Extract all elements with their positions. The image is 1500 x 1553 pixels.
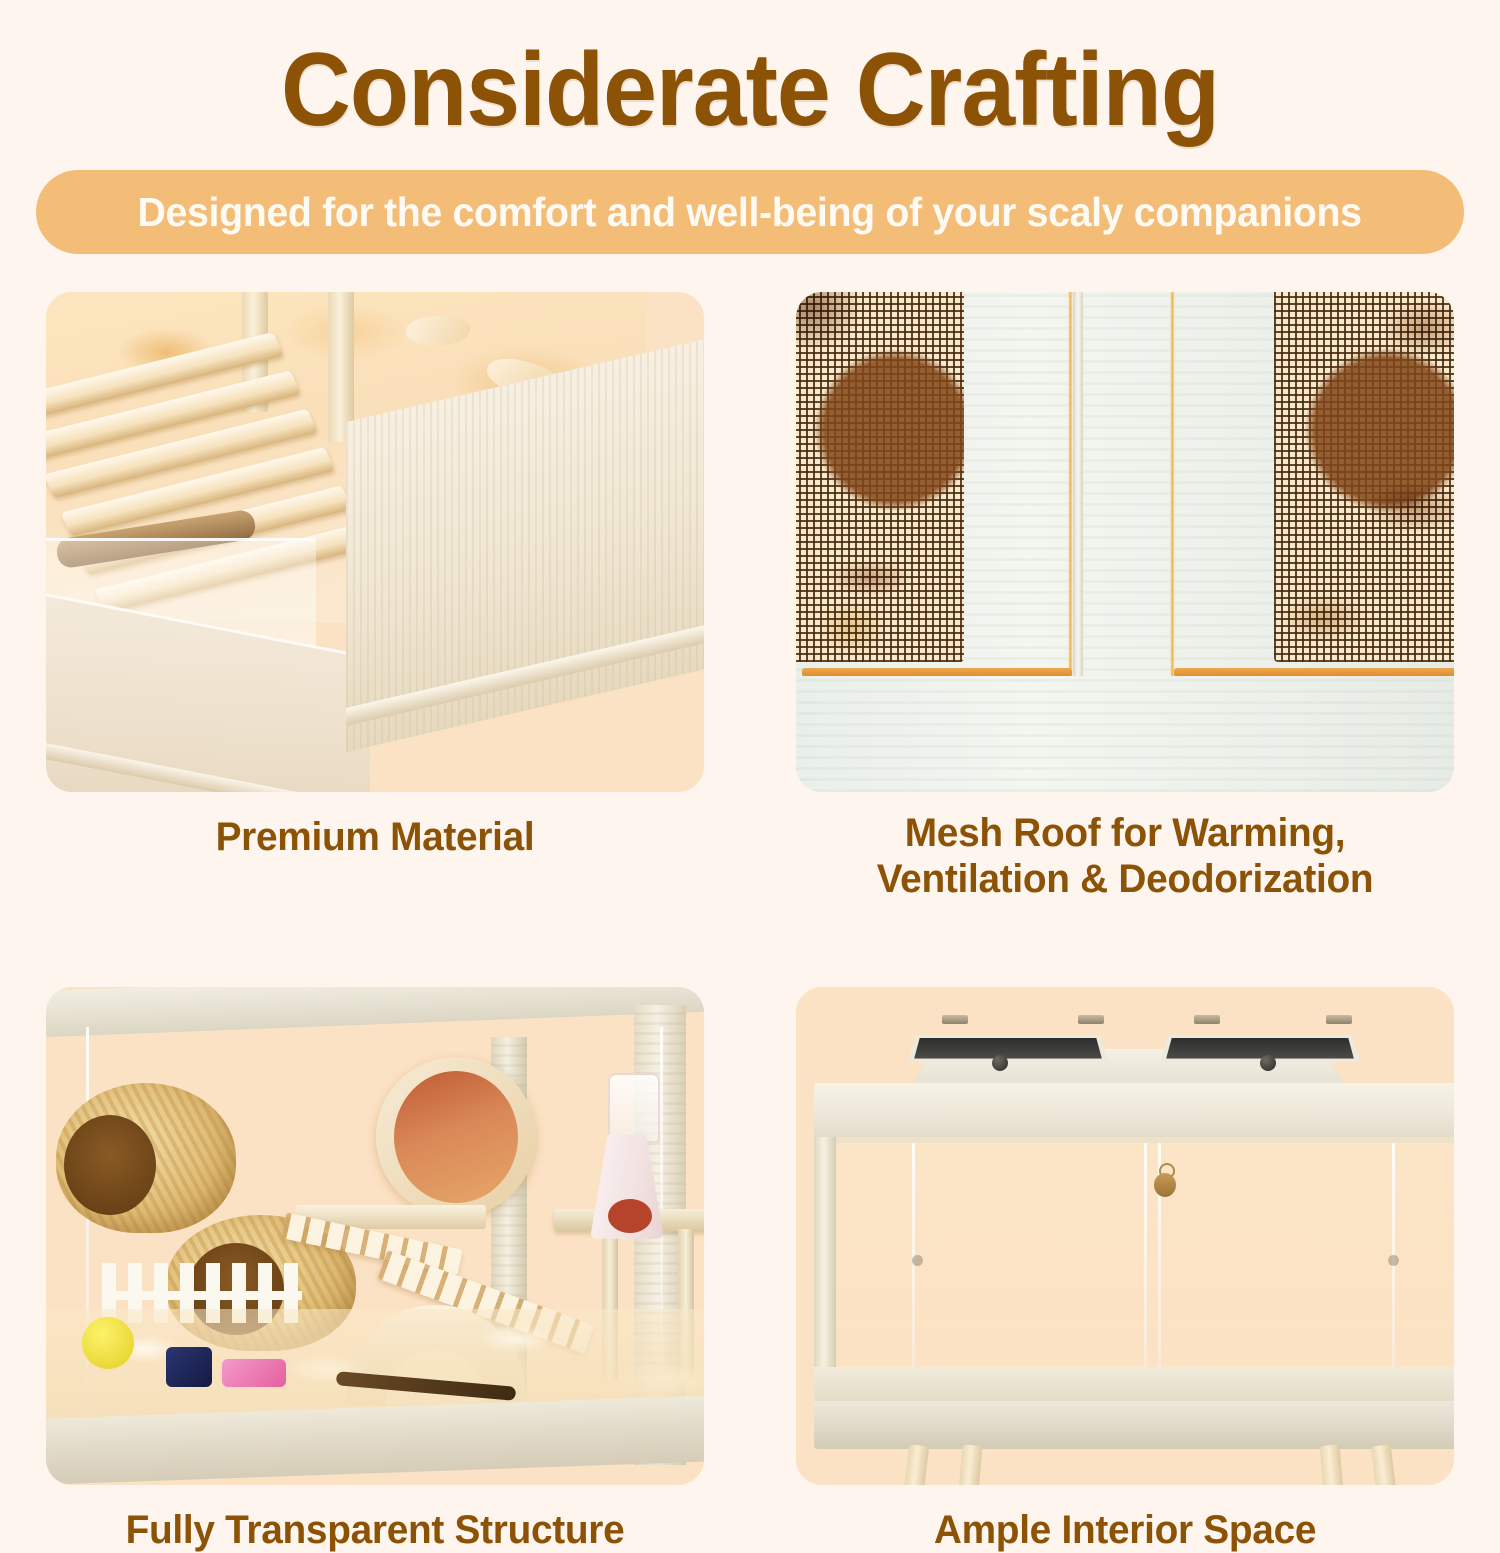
cage-top-rail — [814, 1083, 1454, 1143]
feature-card-transparent-structure: Fully Transparent Structure — [0, 987, 750, 1553]
cage-interior — [814, 1137, 1454, 1397]
feature-card-ample-interior-space: Ample Interior Space — [750, 987, 1500, 1553]
door-latch[interactable] — [1154, 1163, 1176, 1197]
lid-hinge — [1194, 1015, 1220, 1024]
photo-transparent-structure — [46, 987, 704, 1485]
feature-grid: Premium Material — [0, 292, 1500, 1553]
cage-leg-back-left — [954, 1444, 983, 1485]
feature-row-bottom: Fully Transparent Structure — [0, 987, 1500, 1553]
grass-hut-opening — [64, 1115, 156, 1215]
photo-premium-material — [46, 292, 704, 792]
toy-pink — [222, 1359, 286, 1387]
mesh-lid-right — [1160, 1035, 1360, 1062]
subtitle-text: Designed for the comfort and well-being … — [138, 189, 1362, 236]
feature-card-mesh-roof: Mesh Roof for Warming, Ventilation & Deo… — [750, 292, 1500, 903]
photo-ample-interior-space — [796, 987, 1454, 1485]
cage-leg-back-right — [1320, 1444, 1349, 1485]
panel-fastener — [912, 1255, 923, 1266]
cage-leg-front-left — [895, 1444, 929, 1485]
cage-top-frame — [46, 987, 704, 1037]
caption-ample-interior-space: Ample Interior Space — [806, 1507, 1444, 1553]
panel-fastener — [1388, 1255, 1399, 1266]
subtitle-banner: Designed for the comfort and well-being … — [36, 170, 1464, 254]
exercise-wheel — [376, 1057, 536, 1217]
ball-toy-yellow — [82, 1317, 134, 1369]
door-edge-left — [1144, 1143, 1147, 1393]
lid-hinge — [1326, 1015, 1352, 1024]
feature-row-top: Premium Material — [0, 292, 1500, 903]
photo-mesh-roof — [796, 292, 1454, 792]
toy-blue — [166, 1347, 212, 1387]
lid-knob-left[interactable] — [992, 1055, 1008, 1071]
caption-mesh-roof: Mesh Roof for Warming, Ventilation & Deo… — [806, 810, 1444, 903]
acrylic-edge — [912, 1143, 915, 1393]
lid-hinge — [1078, 1015, 1104, 1024]
lid-knob-right[interactable] — [1260, 1055, 1276, 1071]
caption-premium-material: Premium Material — [56, 814, 694, 860]
mesh-panel-right — [1274, 292, 1454, 662]
caption-mesh-roof-line2: Ventilation & Deodorization — [806, 856, 1444, 902]
mesh-lid-left — [908, 1035, 1108, 1062]
cage-base-rail — [814, 1401, 1454, 1449]
page-title: Considerate Crafting — [53, 0, 1448, 146]
acrylic-edge — [1392, 1143, 1395, 1393]
caption-transparent-structure: Fully Transparent Structure — [56, 1507, 694, 1553]
water-bottle — [586, 1073, 670, 1233]
lid-hinge — [942, 1015, 968, 1024]
cage-leg-front-right — [1371, 1444, 1405, 1485]
caption-mesh-roof-line1: Mesh Roof for Warming, — [806, 810, 1444, 856]
feature-card-premium-material: Premium Material — [0, 292, 750, 903]
wood-lower-board — [796, 676, 1454, 792]
mesh-panel-left — [796, 292, 964, 662]
cage-post-left — [814, 1137, 836, 1395]
